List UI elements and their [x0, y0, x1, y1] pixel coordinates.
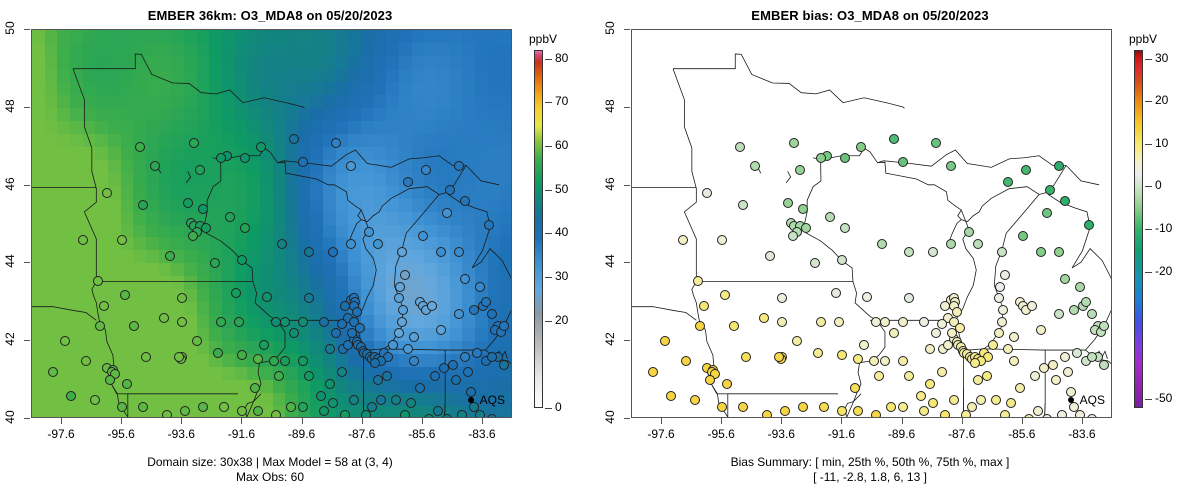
aqs-site-marker [120, 290, 130, 300]
y-tick-label: 48 [3, 93, 17, 119]
aqs-site-marker [940, 410, 950, 418]
aqs-site-marker [1024, 414, 1034, 418]
aqs-site-marker [451, 375, 461, 385]
aqs-site-marker [738, 402, 748, 412]
aqs-site-marker [269, 356, 279, 366]
colorbar-tick [545, 190, 552, 191]
aqs-site-marker [840, 223, 850, 233]
aqs-site-marker [192, 336, 202, 346]
aqs-site-marker [798, 402, 808, 412]
aqs-site-marker [810, 258, 820, 268]
aqs-site-marker [433, 406, 443, 416]
colorbar-tick [545, 102, 552, 103]
x-tick-label: -93.6 [758, 427, 804, 441]
x-tick-label: -83.6 [1059, 427, 1105, 441]
aqs-site-marker [1036, 247, 1046, 257]
aqs-site-marker [373, 239, 383, 249]
aqs-site-marker [666, 391, 676, 401]
aqs-site-marker [298, 356, 308, 366]
aqs-site-marker [409, 332, 419, 342]
aqs-site-marker [660, 336, 670, 346]
aqs-site-marker [487, 352, 497, 362]
aqs-site-marker [280, 356, 290, 366]
aqs-site-marker [304, 293, 314, 303]
aqs-site-marker [837, 255, 847, 265]
aqs-site-marker [1072, 348, 1082, 358]
aqs-site-marker [690, 395, 700, 405]
x-tick [902, 418, 903, 424]
aqs-site-marker [180, 406, 190, 416]
x-tick [962, 418, 963, 424]
y-tick [24, 262, 30, 263]
aqs-site-marker [328, 247, 338, 257]
aqs-site-marker [722, 379, 732, 389]
aqs-site-marker [982, 371, 992, 381]
aqs-site-marker [66, 391, 76, 401]
aqs-site-marker [240, 223, 250, 233]
aqs-site-marker [871, 410, 881, 418]
aqs-site-marker [237, 255, 247, 265]
x-tick-label: -97.6 [638, 427, 684, 441]
aqs-site-marker [1054, 309, 1064, 319]
aqs-site-marker [436, 325, 446, 335]
aqs-site-marker [831, 288, 841, 298]
aqs-site-marker [889, 134, 899, 144]
model-observation-points [32, 30, 511, 417]
aqs-site-marker [395, 282, 405, 292]
y-tick-label: 46 [3, 171, 17, 197]
colorbar-tick-label: 80 [555, 51, 568, 65]
x-tick-label: -93.6 [158, 427, 204, 441]
aqs-site-marker [931, 328, 941, 338]
aqs-legend-left: AQS [468, 393, 505, 407]
aqs-site-marker [198, 204, 208, 214]
aqs-site-marker [475, 282, 485, 292]
aqs-site-marker [135, 142, 145, 152]
aqs-site-marker [1054, 161, 1064, 171]
aqs-site-marker [695, 321, 705, 331]
aqs-site-marker [886, 402, 896, 412]
aqs-site-marker [798, 204, 808, 214]
aqs-site-marker [165, 251, 175, 261]
aqs-site-marker [210, 258, 220, 268]
aqs-site-marker [259, 340, 269, 350]
aqs-site-marker [699, 301, 709, 311]
aqs-site-marker [1000, 410, 1010, 418]
aqs-site-marker [388, 340, 398, 350]
aqs-site-marker [1042, 208, 1052, 218]
aqs-site-marker [262, 292, 272, 302]
aqs-site-marker [102, 188, 112, 198]
colorbar-tick [545, 321, 552, 322]
aqs-site-marker [952, 307, 962, 317]
model-panel: EMBER 36km: O3_MDA8 on 05/20/2023 AQS -9… [0, 0, 600, 502]
aqs-site-marker [877, 239, 887, 249]
aqs-site-marker [904, 293, 914, 303]
aqs-site-marker [1051, 375, 1061, 385]
aqs-site-marker [648, 367, 658, 377]
aqs-site-marker [1075, 282, 1085, 292]
aqs-site-marker [325, 379, 335, 389]
y-tick [624, 29, 630, 30]
aqs-site-marker [1036, 325, 1046, 335]
aqs-site-marker [964, 227, 974, 237]
aqs-site-marker [853, 406, 863, 416]
aqs-site-marker [95, 321, 105, 331]
colorbar-tick-label: 40 [555, 225, 568, 239]
aqs-site-marker [481, 297, 491, 307]
aqs-site-marker [1099, 360, 1109, 370]
x-tick [302, 418, 303, 424]
aqs-site-marker [837, 406, 847, 416]
aqs-site-marker [788, 231, 798, 241]
x-tick [181, 418, 182, 424]
aqs-site-marker [970, 358, 980, 368]
aqs-site-marker [499, 321, 509, 331]
colorbar-tick [545, 233, 552, 234]
aqs-site-marker [177, 317, 187, 327]
bias-caption-line2: [ -11, -2.8, 1.8, 6, 13 ] [600, 470, 1140, 485]
aqs-site-marker [256, 142, 266, 152]
aqs-site-marker [436, 247, 446, 257]
aqs-site-marker [460, 352, 470, 362]
bias-colorbar-title: ppbV [1129, 32, 1157, 46]
aqs-site-marker [1027, 301, 1037, 311]
bias-panel-title: EMBER bias: O3_MDA8 on 05/20/2023 [600, 8, 1140, 23]
aqs-site-marker [819, 402, 829, 412]
aqs-site-marker [409, 356, 419, 366]
aqs-site-marker [183, 198, 193, 208]
aqs-site-marker [376, 395, 386, 405]
colorbar-tick [1145, 59, 1152, 60]
aqs-site-marker [925, 344, 935, 354]
aqs-site-marker [274, 371, 284, 381]
y-tick [24, 340, 30, 341]
aqs-site-marker [352, 307, 362, 317]
aqs-site-marker [869, 356, 879, 366]
aqs-site-marker [418, 231, 428, 241]
colorbar-tick-label: 70 [555, 94, 568, 108]
aqs-site-marker [277, 239, 287, 249]
aqs-site-marker [874, 371, 884, 381]
x-tick [841, 418, 842, 424]
aqs-site-marker [188, 231, 198, 241]
aqs-site-marker [1057, 410, 1067, 418]
aqs-site-marker [225, 212, 235, 222]
bias-plot-area: AQS [631, 29, 1112, 418]
aqs-site-marker [364, 227, 374, 237]
aqs-site-marker [48, 367, 58, 377]
aqs-site-marker [406, 398, 416, 408]
aqs-site-marker [189, 138, 199, 148]
aqs-site-marker [391, 395, 401, 405]
aqs-site-marker [346, 161, 356, 171]
x-tick [61, 418, 62, 424]
aqs-site-marker [834, 317, 844, 327]
aqs-site-marker [355, 323, 365, 333]
y-tick [24, 418, 30, 419]
aqs-site-marker [337, 367, 347, 377]
aqs-site-marker [400, 270, 410, 280]
aqs-site-marker [1006, 398, 1016, 408]
aqs-site-marker [837, 350, 847, 360]
aqs-site-marker [463, 367, 473, 377]
x-tick [1022, 418, 1023, 424]
aqs-site-marker [789, 138, 799, 148]
y-tick-label: 40 [3, 404, 17, 430]
aqs-site-marker [1060, 196, 1070, 206]
aqs-site-marker [162, 410, 172, 418]
aqs-site-marker [940, 301, 950, 311]
aqs-site-marker [400, 410, 410, 418]
bias-caption-line1: Bias Summary: [ min, 25th %, 50th %, 75t… [600, 455, 1140, 470]
aqs-site-marker [319, 406, 329, 416]
aqs-site-marker [289, 328, 299, 338]
aqs-site-marker [904, 371, 914, 381]
aqs-site-marker [271, 317, 281, 327]
aqs-site-marker [1009, 332, 1019, 342]
aqs-site-marker [219, 402, 229, 412]
aqs-site-marker [499, 360, 509, 370]
aqs-site-marker [201, 223, 211, 233]
aqs-site-marker [795, 165, 805, 175]
model-caption-line2: Max Obs: 60 [0, 470, 540, 485]
y-tick-label: 40 [603, 404, 617, 430]
x-tick [241, 418, 242, 424]
model-colorbar-title: ppbV [529, 32, 557, 46]
bias-observation-points [632, 30, 1111, 417]
x-tick [721, 418, 722, 424]
aqs-site-marker [967, 402, 977, 412]
aqs-site-marker [976, 395, 986, 405]
aqs-site-marker [340, 301, 350, 311]
bias-panel: EMBER bias: O3_MDA8 on 05/20/2023 AQS -9… [600, 0, 1200, 502]
aqs-site-marker [253, 354, 263, 364]
aqs-site-marker [198, 402, 208, 412]
aqs-site-marker [816, 153, 826, 163]
aqs-site-marker [1045, 185, 1055, 195]
aqs-site-marker [994, 328, 1004, 338]
aqs-site-marker [991, 395, 1001, 405]
aqs-site-marker [871, 317, 881, 327]
colorbar-tick-label: 30 [1155, 51, 1168, 65]
aqs-site-marker [988, 340, 998, 350]
aqs-site-marker [397, 317, 407, 327]
aqs-site-marker [415, 383, 425, 393]
x-tick-label: -95.6 [98, 427, 144, 441]
aqs-site-marker [973, 239, 983, 249]
colorbar-tick [545, 146, 552, 147]
aqs-site-marker [880, 356, 890, 366]
aqs-site-marker [117, 235, 127, 245]
aqs-site-marker [484, 220, 494, 230]
aqs-site-marker [298, 402, 308, 412]
aqs-site-marker [898, 157, 908, 167]
aqs-site-marker [337, 319, 347, 329]
aqs-site-marker [904, 247, 914, 257]
y-tick-label: 44 [3, 248, 17, 274]
x-tick-label: -89.6 [279, 427, 325, 441]
aqs-site-marker [1087, 352, 1097, 362]
aqs-site-marker [421, 165, 431, 175]
aqs-site-marker [280, 317, 290, 327]
aqs-site-marker [271, 410, 281, 418]
aqs-site-marker [475, 410, 485, 418]
aqs-site-marker [889, 328, 899, 338]
aqs-site-marker [141, 352, 151, 362]
aqs-site-marker [1015, 383, 1025, 393]
colorbar-tick [545, 277, 552, 278]
aqs-site-marker [1060, 274, 1070, 284]
aqs-site-marker [928, 398, 938, 408]
aqs-site-marker [856, 142, 866, 152]
aqs-site-marker [298, 157, 308, 167]
aqs-site-marker [853, 354, 863, 364]
colorbar-tick-label: 50 [555, 182, 568, 196]
aqs-site-marker [177, 293, 187, 303]
aqs-site-marker [250, 383, 260, 393]
aqs-site-marker [762, 410, 772, 418]
aqs-site-marker [931, 138, 941, 148]
aqs-site-marker [213, 348, 223, 358]
colorbar-tick-label: 30 [555, 269, 568, 283]
aqs-site-marker [783, 198, 793, 208]
aqs-site-marker [398, 305, 408, 315]
y-tick [624, 185, 630, 186]
aqs-site-marker [328, 398, 338, 408]
x-tick [1082, 418, 1083, 424]
aqs-site-marker [780, 406, 790, 416]
aqs-site-marker [916, 391, 926, 401]
aqs-site-marker [1042, 414, 1052, 418]
aqs-site-marker [93, 276, 103, 286]
y-tick-label: 42 [603, 326, 617, 352]
aqs-site-marker [445, 185, 455, 195]
colorbar-tick [1145, 144, 1152, 145]
aqs-site-marker [898, 402, 908, 412]
aqs-site-marker [792, 336, 802, 346]
x-tick-label: -85.6 [999, 427, 1045, 441]
aqs-legend-right: AQS [1068, 393, 1105, 407]
aqs-site-marker [129, 321, 139, 331]
aqs-site-marker [373, 375, 383, 385]
colorbar-tick [1145, 399, 1152, 400]
aqs-site-marker [487, 309, 497, 319]
aqs-site-marker [382, 371, 392, 381]
aqs-site-marker [702, 188, 712, 198]
aqs-site-marker [237, 406, 247, 416]
aqs-site-marker [1063, 367, 1073, 377]
aqs-site-marker [995, 282, 1005, 292]
aqs-site-marker [705, 375, 715, 385]
y-tick-label: 50 [3, 15, 17, 41]
aqs-site-marker [973, 375, 983, 385]
y-tick-label: 46 [603, 171, 617, 197]
aqs-site-marker [998, 305, 1008, 315]
bias-colorbar-gradient [1134, 50, 1143, 408]
aqs-site-marker [394, 328, 404, 338]
aqs-site-marker [919, 317, 929, 327]
x-tick-label: -89.6 [879, 427, 925, 441]
aqs-site-marker [1048, 360, 1058, 370]
aqs-site-marker [460, 274, 470, 284]
aqs-site-marker [1009, 356, 1019, 366]
colorbar-tick [545, 59, 552, 60]
aqs-marker-icon [468, 397, 474, 403]
aqs-site-marker [801, 223, 811, 233]
aqs-marker-icon [1068, 397, 1074, 403]
x-tick-label: -97.6 [38, 427, 84, 441]
aqs-site-marker [816, 317, 826, 327]
aqs-site-marker [898, 356, 908, 366]
colorbar-tick-label: 60 [555, 138, 568, 152]
x-tick-label: -83.6 [459, 427, 505, 441]
aqs-site-marker [949, 395, 959, 405]
aqs-site-marker [424, 414, 434, 418]
aqs-site-marker [487, 414, 497, 418]
aqs-site-marker [240, 153, 250, 163]
aqs-site-marker [729, 321, 739, 331]
aqs-site-marker [90, 395, 100, 405]
aqs-site-marker [693, 276, 703, 286]
aqs-site-marker [234, 317, 244, 327]
colorbar-tick-label: 0 [1155, 178, 1162, 192]
aqs-site-marker [159, 313, 169, 323]
aqs-site-marker [331, 328, 341, 338]
aqs-site-marker [994, 293, 1004, 303]
y-tick [624, 262, 630, 263]
aqs-site-marker [403, 344, 413, 354]
figure-canvas: EMBER 36km: O3_MDA8 on 05/20/2023 AQS -9… [0, 0, 1200, 502]
aqs-site-marker [430, 371, 440, 381]
colorbar-tick [1145, 101, 1152, 102]
aqs-site-marker [1060, 352, 1070, 362]
aqs-site-marker [859, 340, 869, 350]
x-tick-label: -95.6 [698, 427, 744, 441]
aqs-site-marker [937, 367, 947, 377]
aqs-site-marker [253, 406, 263, 416]
aqs-site-marker [862, 292, 872, 302]
y-tick [624, 107, 630, 108]
aqs-site-marker [319, 317, 329, 327]
colorbar-tick-label: 20 [555, 313, 568, 327]
aqs-site-marker [1003, 177, 1013, 187]
aqs-site-marker [304, 247, 314, 257]
y-tick [24, 29, 30, 30]
aqs-site-marker [813, 348, 823, 358]
y-tick-label: 44 [603, 248, 617, 274]
y-tick-label: 50 [603, 15, 617, 41]
aqs-site-marker [237, 350, 247, 360]
aqs-site-marker [442, 208, 452, 218]
aqs-site-marker [105, 375, 115, 385]
aqs-site-marker [759, 313, 769, 323]
aqs-site-marker [289, 134, 299, 144]
x-tick [781, 418, 782, 424]
aqs-site-marker [454, 309, 464, 319]
aqs-site-marker [394, 293, 404, 303]
aqs-legend-label: AQS [480, 393, 505, 407]
aqs-site-marker [1087, 414, 1097, 418]
colorbar-tick-label: 20 [1155, 93, 1168, 107]
aqs-site-marker [340, 410, 350, 418]
aqs-site-marker [367, 402, 377, 412]
aqs-site-marker [1021, 165, 1031, 175]
aqs-site-marker [850, 383, 860, 393]
aqs-site-marker [997, 247, 1007, 257]
aqs-site-marker [397, 247, 407, 257]
x-tick-label: -87.6 [939, 427, 985, 441]
